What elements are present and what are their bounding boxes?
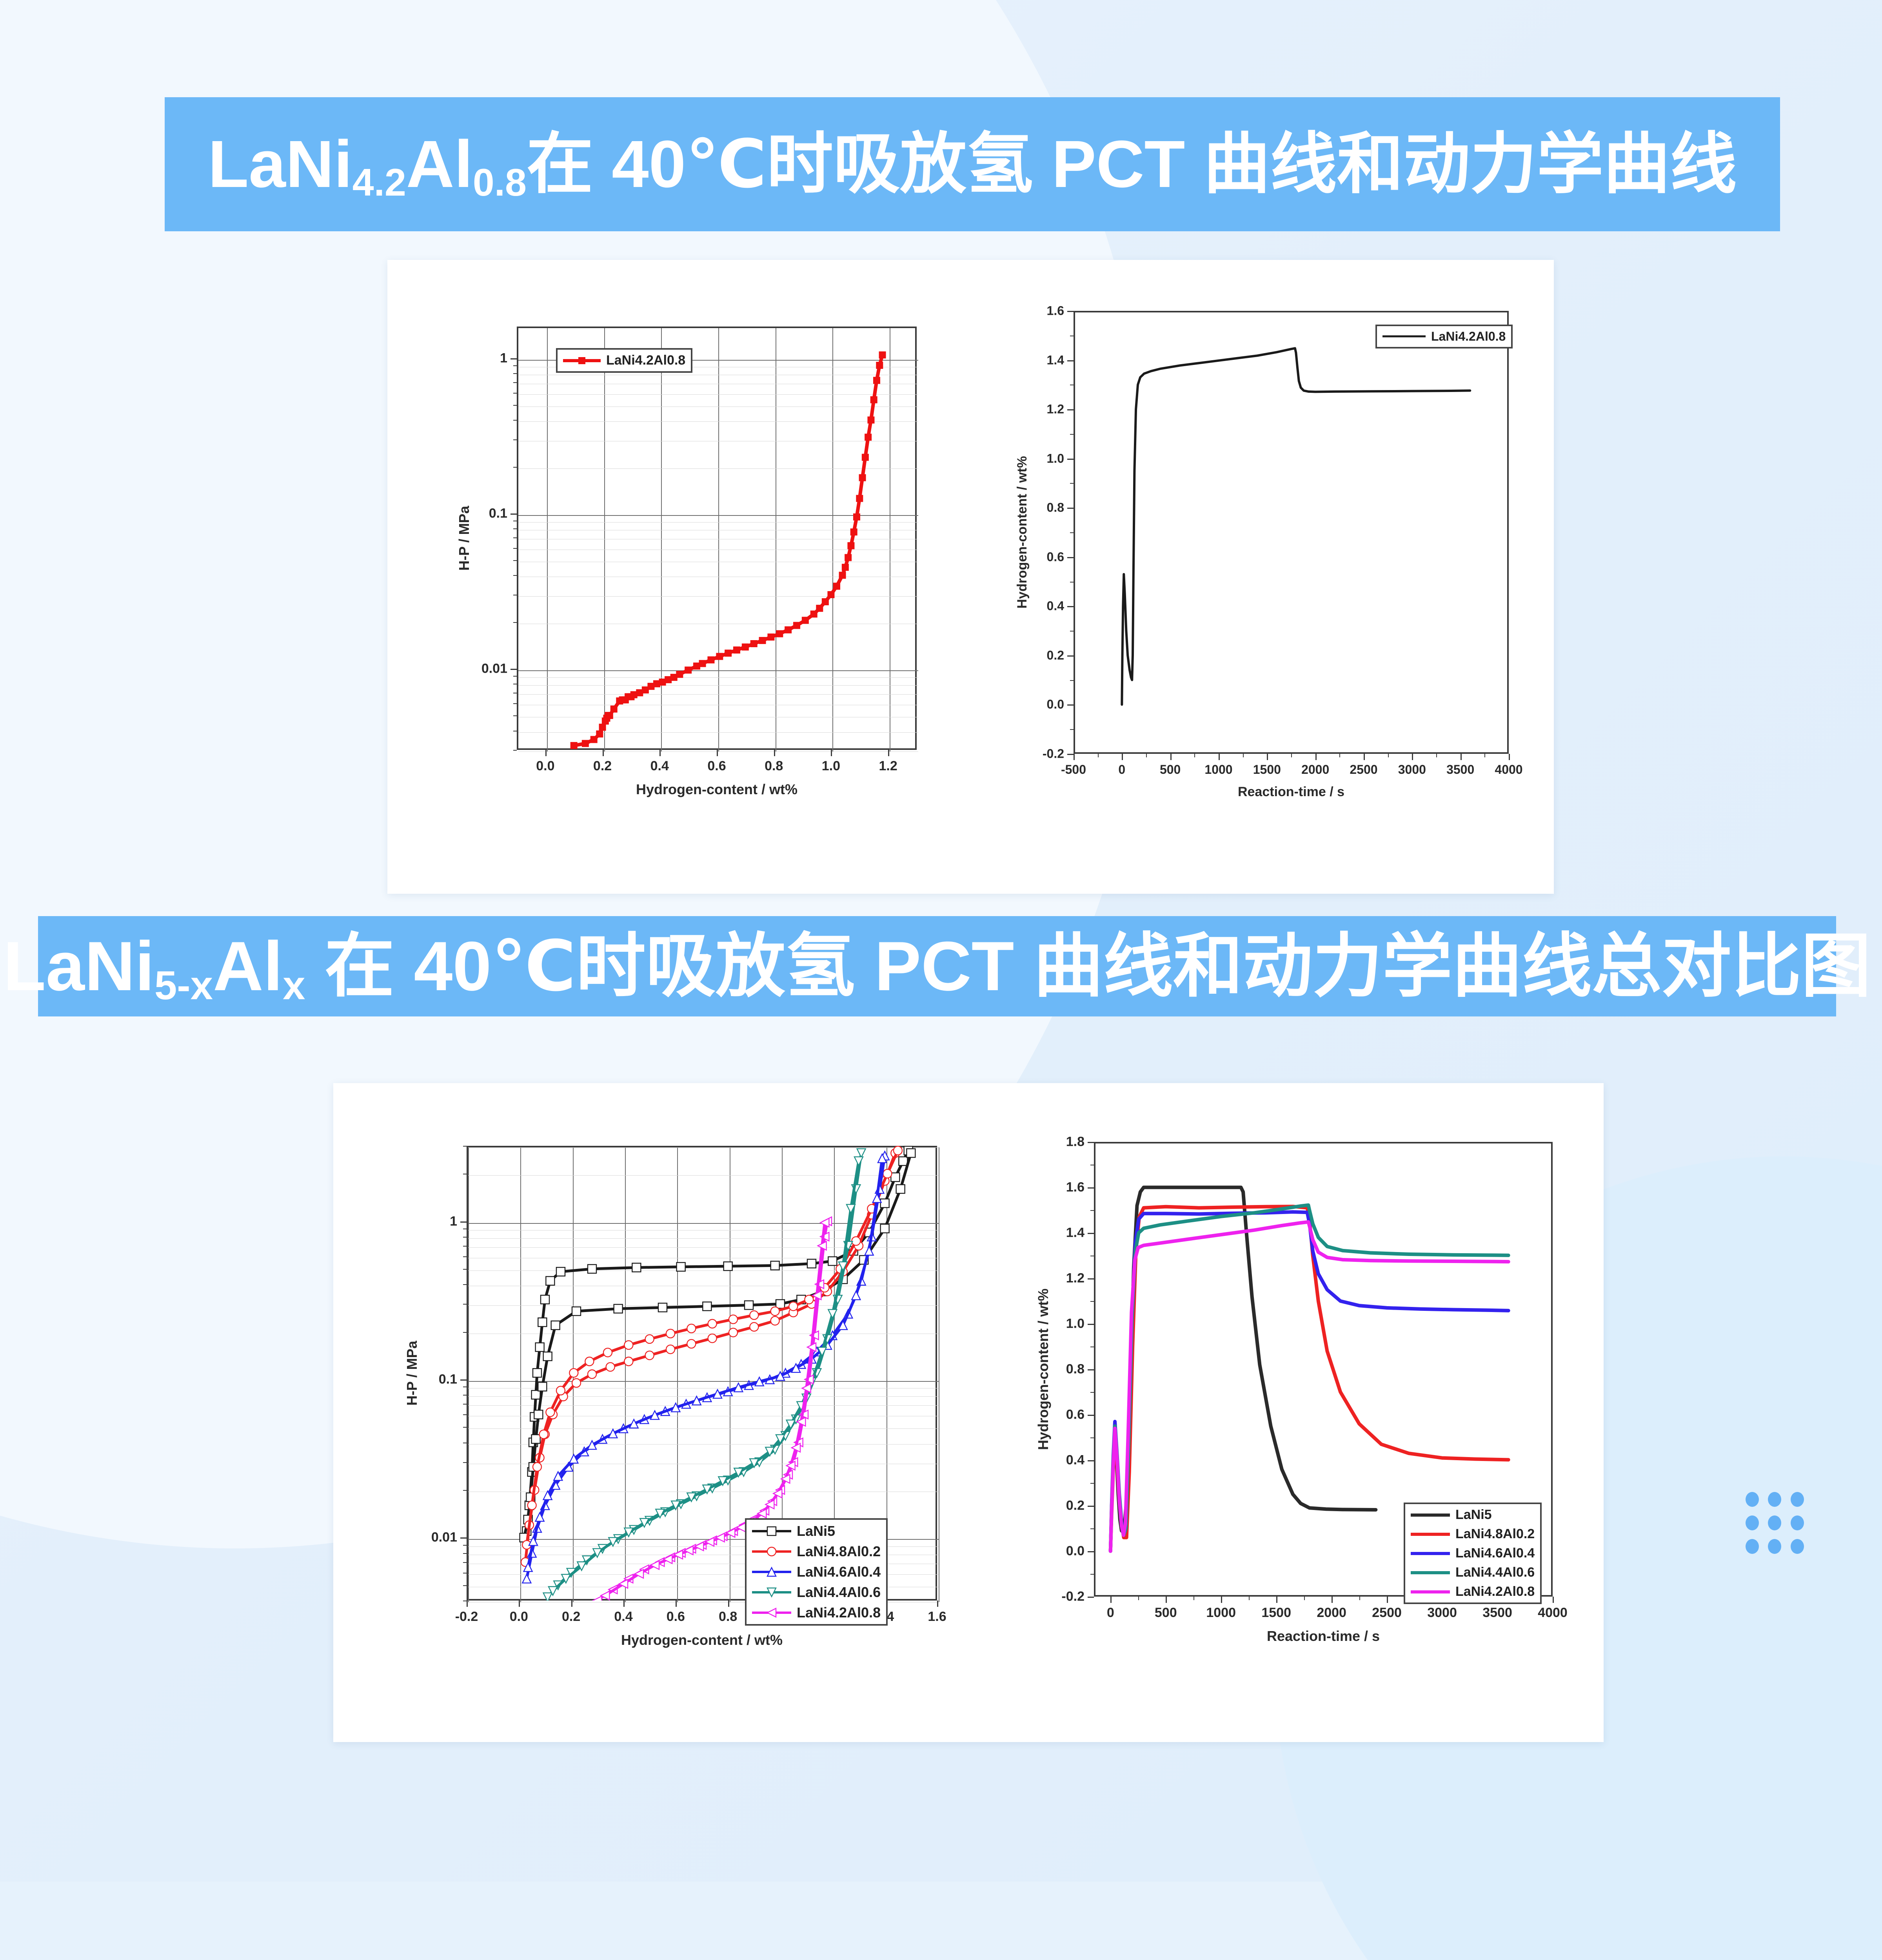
y-tick (1067, 754, 1074, 755)
series-marker (556, 1267, 565, 1276)
x-minor-tick (1243, 754, 1244, 757)
y-minor-tick (463, 1414, 467, 1415)
series-marker (842, 564, 848, 571)
y-tick-label: 0.8 (1047, 501, 1064, 515)
chart-series-layer (517, 327, 917, 750)
x-tick (519, 1601, 520, 1607)
y-tick (510, 358, 517, 359)
x-tick (774, 750, 775, 756)
title2-subscript-2: x (283, 963, 305, 1008)
y-tick (1067, 459, 1074, 460)
x-minor-tick (1194, 754, 1195, 757)
series-marker (666, 1345, 675, 1354)
legend-swatch (1411, 1507, 1450, 1523)
series-marker (785, 626, 792, 633)
y-minor-tick (1090, 1256, 1094, 1256)
series-marker (852, 1291, 860, 1300)
y-tick (1088, 1415, 1094, 1416)
series-marker (857, 1149, 866, 1157)
series-marker (533, 1368, 541, 1377)
series-marker (538, 1318, 547, 1327)
series-marker (538, 1382, 547, 1391)
series-marker (771, 1307, 779, 1316)
y-tick (1067, 655, 1074, 657)
series-marker (624, 1341, 633, 1349)
y-tick (1088, 1233, 1094, 1234)
y-minor-tick (513, 693, 517, 693)
legend-swatch (1382, 329, 1426, 344)
legend-label: LaNi4.6Al0.4 (1455, 1546, 1535, 1561)
legend-item: LaNi5 (752, 1523, 881, 1539)
series-marker (716, 653, 723, 660)
x-minor-tick (1339, 754, 1340, 757)
series-marker (750, 1323, 758, 1331)
title1-rest: 在 40℃时吸放氢 PCT 曲线和动力学曲线 (527, 127, 1737, 201)
y-tick-label: 1.2 (1047, 402, 1064, 417)
y-tick-label: 1.6 (1047, 304, 1064, 318)
x-tick-label: 2000 (1317, 1605, 1346, 1621)
series-marker (585, 1357, 594, 1366)
series-marker (828, 591, 834, 598)
series-marker (874, 377, 880, 384)
y-minor-tick (1090, 1528, 1094, 1529)
series-marker (546, 1408, 554, 1417)
y-minor-tick (513, 405, 517, 406)
figure-panel-top: 0.00.20.40.60.81.01.210.10.01Hydrogen-co… (387, 260, 1554, 894)
y-minor-tick (1070, 434, 1074, 435)
y-minor-tick (463, 1237, 467, 1238)
series-marker (532, 1435, 540, 1443)
series-marker (556, 1386, 565, 1395)
series-marker (708, 657, 714, 663)
series-line (1110, 1205, 1508, 1551)
series-marker (588, 1370, 596, 1378)
y-minor-tick (513, 560, 517, 561)
x-tick (717, 750, 718, 756)
y-minor-tick (463, 1246, 467, 1247)
y-minor-tick (463, 1332, 467, 1333)
y-minor-tick (1090, 1392, 1094, 1393)
x-tick-label: 0 (1118, 762, 1125, 777)
series-marker (666, 1329, 675, 1338)
x-tick (1166, 1597, 1167, 1603)
x-tick-label: 4000 (1538, 1605, 1568, 1621)
x-minor-tick (1484, 754, 1485, 757)
series-marker (822, 599, 828, 605)
y-minor-tick (463, 1427, 467, 1428)
series-marker (716, 1533, 725, 1542)
series-marker (891, 1173, 899, 1181)
x-tick (888, 750, 889, 756)
x-tick-label: 0.6 (707, 759, 726, 774)
y-tick (510, 514, 517, 515)
x-tick (1387, 1597, 1388, 1603)
section-title-2: LaNi5-xAlx 在 40℃时吸放氢 PCT 曲线和动力学曲线总对比图 (3, 931, 1871, 1001)
chart-kinetics-compare: 050010001500200025003000350040001.81.61.… (976, 1099, 1596, 1730)
series-marker (699, 660, 706, 667)
series-marker (729, 1328, 738, 1337)
series-marker (543, 1352, 552, 1361)
series-marker (845, 554, 852, 561)
y-minor-tick (463, 1562, 467, 1563)
legend-swatch (752, 1564, 791, 1580)
legend-label: LaNi4.2Al0.8 (1455, 1584, 1535, 1599)
legend-item: LaNi4.8Al0.2 (752, 1543, 881, 1560)
series-marker (533, 1463, 541, 1471)
series-line (1110, 1207, 1508, 1551)
y-minor-tick (1090, 1165, 1094, 1165)
legend-label: LaNi4.2Al0.8 (606, 353, 685, 368)
y-minor-tick (463, 1284, 467, 1285)
y-minor-tick (513, 467, 517, 468)
series-marker (541, 1295, 549, 1304)
series-marker (534, 1410, 543, 1419)
series-marker (606, 712, 613, 719)
y-axis-title: H-P / MPa (456, 506, 472, 570)
chart-pct-compare: -0.20.00.20.40.60.81.01.21.41.610.10.01H… (341, 1103, 976, 1730)
series-marker (771, 1316, 779, 1325)
series-marker (546, 1277, 554, 1285)
y-tick (1067, 606, 1074, 607)
series-marker (522, 1574, 531, 1583)
series-marker (540, 1430, 548, 1439)
x-tick (623, 1601, 625, 1607)
series-marker (705, 1537, 714, 1546)
series-line (1110, 1222, 1508, 1551)
series-marker (632, 1263, 641, 1272)
y-minor-tick (513, 528, 517, 529)
y-tick (510, 669, 517, 670)
y-tick (1088, 1506, 1094, 1507)
y-tick (1088, 1551, 1094, 1552)
y-tick (460, 1379, 467, 1381)
x-tick-label: 500 (1160, 762, 1181, 777)
y-minor-tick (463, 1601, 467, 1601)
x-tick-label: 1000 (1206, 1605, 1236, 1621)
x-tick (1267, 754, 1268, 760)
y-tick-label: 0.4 (1066, 1453, 1085, 1468)
y-minor-tick (513, 703, 517, 704)
series-marker (870, 396, 877, 403)
x-tick-label: 2500 (1372, 1605, 1402, 1621)
x-tick (603, 750, 604, 756)
legend-item: LaNi4.4Al0.6 (1411, 1565, 1535, 1580)
series-marker (802, 617, 808, 624)
y-minor-tick (463, 1462, 467, 1463)
y-minor-tick (463, 1545, 467, 1546)
y-minor-tick (463, 1387, 467, 1387)
title2-rest: 在 40℃时吸放氢 PCT 曲线和动力学曲线总对比图 (305, 927, 1871, 1005)
series-marker (771, 1261, 779, 1270)
series-marker (569, 1368, 578, 1377)
y-minor-tick (463, 1304, 467, 1305)
y-tick-label: 1.0 (1066, 1316, 1085, 1332)
x-minor-tick (1359, 1597, 1360, 1600)
y-minor-tick (1090, 1347, 1094, 1347)
x-tick (1509, 754, 1510, 760)
y-tick-label: 0.4 (1047, 599, 1064, 613)
series-marker (528, 1501, 536, 1510)
chart-pct-single: 0.00.20.40.60.81.01.210.10.01Hydrogen-co… (399, 276, 960, 879)
legend-item: LaNi4.4Al0.6 (752, 1584, 881, 1601)
x-tick-label: 3000 (1398, 762, 1426, 777)
x-tick-label: 0.2 (593, 759, 612, 774)
x-minor-tick (1291, 754, 1292, 757)
y-tick (460, 1221, 467, 1223)
x-tick (1412, 754, 1413, 760)
series-marker (776, 630, 783, 637)
series-marker (645, 1351, 654, 1360)
series-marker (695, 1542, 703, 1551)
series-marker (658, 1303, 667, 1312)
y-minor-tick (1090, 1574, 1094, 1575)
x-tick (937, 1601, 938, 1607)
series-marker (570, 742, 577, 749)
legend-item: LaNi4.8Al0.2 (1411, 1526, 1535, 1542)
series-marker (850, 529, 857, 535)
series-line (525, 1153, 895, 1562)
legend-item: LaNi4.2Al0.8 (1382, 329, 1506, 344)
series-marker (859, 474, 866, 481)
series-marker (834, 583, 840, 590)
y-minor-tick (513, 382, 517, 383)
y-minor-tick (513, 521, 517, 521)
y-tick-label: 1 (450, 1214, 457, 1229)
series-marker (854, 1157, 863, 1165)
x-tick (571, 1601, 572, 1607)
series-marker (865, 434, 872, 441)
chart-legend: LaNi4.2Al0.8 (1375, 325, 1513, 348)
series-marker (599, 724, 606, 731)
y-minor-tick (513, 715, 517, 716)
legend-swatch (752, 1584, 791, 1600)
y-tick (1067, 409, 1074, 410)
series-marker (606, 1363, 615, 1371)
series-marker (532, 1390, 540, 1399)
x-tick-label: 0.6 (667, 1609, 685, 1624)
legend-swatch (752, 1523, 791, 1539)
y-axis-title: H-P / MPa (404, 1341, 420, 1405)
y-tick (1067, 311, 1074, 312)
legend-swatch (752, 1604, 791, 1621)
series-marker (856, 495, 863, 502)
series-line (1110, 1187, 1376, 1551)
x-tick-label: 0.8 (765, 759, 783, 774)
y-tick (1088, 1142, 1094, 1143)
y-minor-tick (463, 1229, 467, 1229)
legend-label: LaNi5 (797, 1523, 835, 1539)
y-minor-tick (463, 1585, 467, 1586)
y-tick-label: 0.0 (1066, 1544, 1085, 1559)
title2-prefix: LaNi (3, 927, 154, 1005)
legend-label: LaNi4.2Al0.8 (797, 1604, 881, 1621)
legend-label: LaNi4.6Al0.4 (797, 1564, 881, 1580)
series-marker (848, 543, 854, 549)
series-marker (703, 1302, 711, 1310)
y-tick-label: 0.8 (1066, 1362, 1085, 1377)
chart-legend: LaNi5LaNi4.8Al0.2LaNi4.6Al0.4LaNi4.4Al0.… (745, 1518, 888, 1626)
x-axis-title: Hydrogen-content / wt% (636, 781, 797, 798)
y-minor-tick (1090, 1437, 1094, 1438)
series-marker (868, 417, 874, 423)
y-tick-label: 1.2 (1066, 1271, 1085, 1286)
x-minor-tick (1194, 1597, 1194, 1600)
legend-swatch (1411, 1565, 1450, 1580)
legend-swatch (1411, 1584, 1450, 1599)
x-tick-label: 0.4 (650, 759, 669, 774)
x-minor-tick (1249, 1597, 1250, 1600)
y-tick-label: -0.2 (1061, 1589, 1085, 1604)
series-marker (572, 1379, 581, 1387)
y-minor-tick (513, 373, 517, 374)
x-tick-label: 3500 (1482, 1605, 1512, 1621)
y-minor-tick (1090, 1483, 1094, 1484)
series-marker (734, 647, 740, 653)
series-marker (807, 1259, 816, 1268)
legend-swatch (1411, 1526, 1450, 1542)
y-tick (1067, 508, 1074, 509)
x-minor-tick (1304, 1597, 1305, 1600)
x-tick-label: 1.6 (928, 1609, 946, 1624)
series-marker (725, 650, 732, 657)
series-marker (881, 1224, 889, 1233)
section-title-banner-2: LaNi5-xAlx 在 40℃时吸放氢 PCT 曲线和动力学曲线总对比图 (38, 916, 1836, 1016)
y-minor-tick (513, 622, 517, 623)
legend-label: LaNi5 (1455, 1507, 1492, 1523)
y-tick (1088, 1597, 1094, 1598)
legend-swatch (752, 1543, 791, 1559)
series-marker (582, 740, 589, 747)
series-marker (603, 1348, 612, 1357)
x-tick-label: 4000 (1495, 762, 1522, 777)
y-minor-tick (463, 1146, 467, 1147)
x-tick-label: -0.2 (455, 1609, 478, 1624)
x-tick-label: 1500 (1253, 762, 1281, 777)
legend-item: LaNi4.2Al0.8 (1411, 1584, 1535, 1599)
series-marker (805, 1295, 813, 1304)
x-tick-label: 0.4 (614, 1609, 632, 1624)
y-minor-tick (463, 1404, 467, 1405)
y-minor-gridline (518, 751, 918, 752)
x-tick-label: 0 (1107, 1605, 1114, 1621)
y-tick-label: 0.0 (1047, 697, 1064, 712)
section-title-1: LaNi4.2Al0.8在 40℃时吸放氢 PCT 曲线和动力学曲线 (208, 131, 1737, 198)
series-marker (596, 731, 603, 737)
series-marker (750, 641, 757, 647)
y-tick-label: 1.8 (1066, 1134, 1085, 1150)
series-marker (729, 1315, 738, 1324)
x-axis-title: Hydrogen-content / wt% (621, 1632, 783, 1648)
decorative-dot-grid (1746, 1492, 1804, 1551)
y-tick-label: 0.01 (481, 661, 507, 676)
x-tick (728, 1601, 729, 1607)
series-marker (742, 644, 748, 650)
x-tick-label: 1.0 (822, 759, 840, 774)
figure-panel-bottom: -0.20.00.20.40.60.81.01.21.41.610.10.01H… (333, 1083, 1604, 1742)
x-tick (1110, 1597, 1112, 1603)
y-minor-tick (463, 1395, 467, 1396)
y-minor-tick (1070, 631, 1074, 632)
y-tick (1088, 1369, 1094, 1370)
title2-subscript-1: 5-x (154, 963, 213, 1008)
legend-item: LaNi5 (1411, 1507, 1535, 1523)
series-marker (677, 1263, 685, 1271)
y-tick-label: 1.0 (1047, 451, 1064, 466)
series-marker (816, 605, 823, 612)
series-marker (676, 671, 683, 678)
y-tick-label: 0.1 (489, 506, 507, 521)
series-marker (899, 1157, 907, 1165)
y-minor-tick (513, 676, 517, 677)
y-minor-tick (513, 750, 517, 751)
series-marker (588, 1265, 596, 1273)
y-minor-tick (463, 1573, 467, 1573)
y-tick (1088, 1187, 1094, 1189)
x-tick (1553, 1597, 1554, 1603)
x-tick (1461, 754, 1462, 760)
y-minor-tick (1090, 1301, 1094, 1302)
y-minor-tick (463, 1269, 467, 1270)
series-marker (876, 362, 883, 368)
x-tick (467, 1601, 468, 1607)
y-minor-tick (1090, 1210, 1094, 1211)
legend-item: LaNi4.6Al0.4 (1411, 1546, 1535, 1561)
legend-swatch (563, 353, 601, 368)
series-marker (610, 706, 617, 712)
legend-swatch (1411, 1546, 1450, 1561)
y-tick-label: 0.01 (431, 1530, 457, 1545)
series-marker (828, 1310, 837, 1318)
x-axis-title: Reaction-time / s (1238, 784, 1344, 800)
x-minor-tick (1436, 754, 1437, 757)
x-minor-tick (1388, 754, 1389, 757)
y-tick (1067, 557, 1074, 558)
x-tick-label: 0.0 (536, 759, 554, 774)
chart-legend: LaNi4.2Al0.8 (556, 348, 692, 373)
series-marker (750, 1311, 758, 1319)
y-minor-tick (1070, 680, 1074, 681)
series-marker (894, 1146, 902, 1155)
series-marker (759, 637, 766, 644)
series-marker (551, 1321, 560, 1330)
x-tick-label: 0.8 (719, 1609, 737, 1624)
x-tick (676, 1601, 677, 1607)
y-tick (1067, 360, 1074, 361)
series-marker (536, 1343, 544, 1352)
series-marker (862, 454, 868, 461)
section-title-banner-1: LaNi4.2Al0.8在 40℃时吸放氢 PCT 曲线和动力学曲线 (165, 97, 1780, 231)
series-line (1122, 348, 1470, 704)
x-tick (1364, 754, 1365, 760)
y-tick (1088, 1278, 1094, 1279)
y-minor-tick (1070, 532, 1074, 533)
y-tick (1088, 1324, 1094, 1325)
series-marker (708, 1319, 717, 1328)
series-marker (708, 1334, 717, 1343)
series-marker (543, 1593, 552, 1601)
series-marker (896, 1185, 905, 1193)
x-tick-label: 3000 (1427, 1605, 1457, 1621)
y-tick-label: 1.4 (1047, 353, 1064, 367)
y-minor-tick (513, 537, 517, 538)
x-tick (1332, 1597, 1333, 1603)
y-tick-label: 0.6 (1066, 1407, 1085, 1423)
series-marker (572, 1307, 581, 1316)
y-minor-tick (463, 1256, 467, 1257)
series-marker (881, 1199, 889, 1208)
x-tick-label: 3500 (1446, 762, 1474, 777)
y-tick (1067, 704, 1074, 706)
